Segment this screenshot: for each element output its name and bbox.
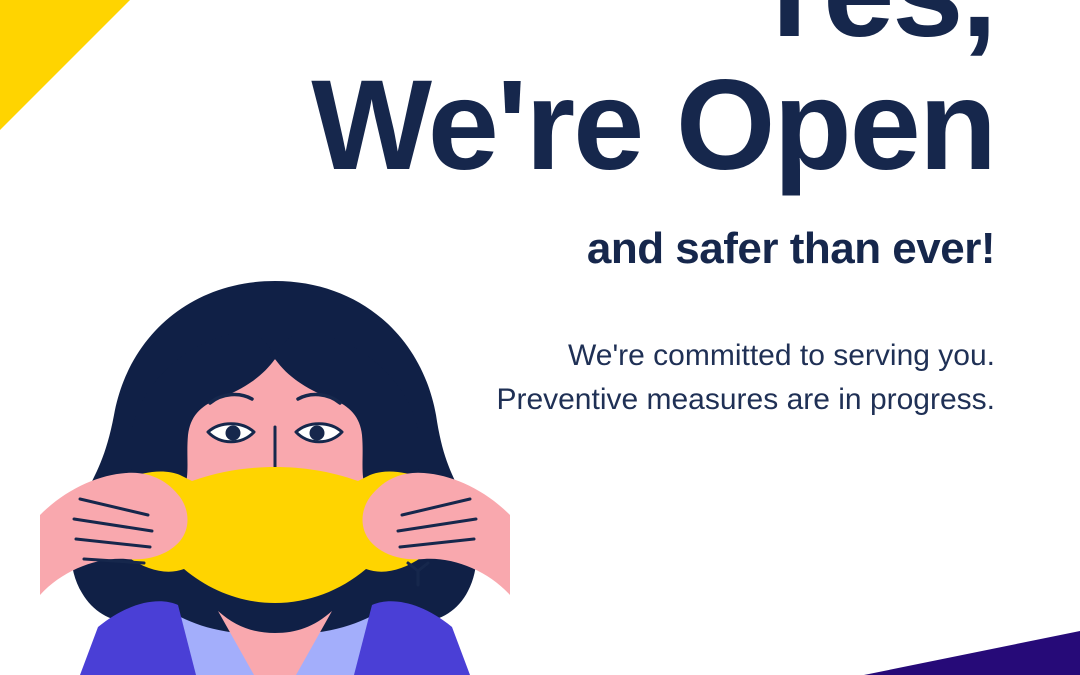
indigo-corner-triangle-icon bbox=[864, 631, 1080, 675]
poster-subheadline: and safer than ever! bbox=[175, 192, 995, 274]
poster-canvas: Yes, We're Open and safer than ever! We'… bbox=[0, 0, 1080, 675]
eye-right bbox=[296, 424, 342, 442]
page-title: Yes, We're Open bbox=[175, 0, 995, 192]
yellow-corner-triangle-icon bbox=[0, 0, 130, 130]
eye-left bbox=[208, 424, 254, 442]
poster-text-block: Yes, We're Open and safer than ever! We'… bbox=[175, 0, 995, 421]
poster-body-copy: We're committed to serving you. Preventi… bbox=[175, 274, 995, 421]
